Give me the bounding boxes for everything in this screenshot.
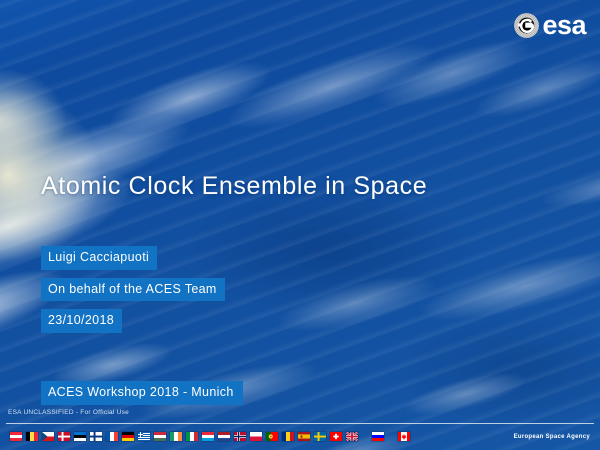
flag-canada xyxy=(398,432,410,441)
presenter-block: Luigi Cacciapuoti On behalf of the ACES … xyxy=(41,246,225,333)
flag-belgium xyxy=(26,432,38,441)
classification-notice: ESA UNCLASSIFIED - For Official Use xyxy=(8,409,129,416)
flag-greece xyxy=(138,432,150,441)
flag-finland xyxy=(90,432,102,441)
presentation-slide: esa Atomic Clock Ensemble in Space Luigi… xyxy=(0,0,600,450)
flag-poland xyxy=(250,432,262,441)
flag-france xyxy=(106,432,118,441)
flag-slovenia xyxy=(372,432,384,441)
member-state-flags xyxy=(10,432,410,441)
esa-logo: esa xyxy=(513,8,586,42)
flag-united-kingdom xyxy=(346,432,358,441)
flag-italy xyxy=(186,432,198,441)
flag-austria xyxy=(10,432,22,441)
esa-globe-mark xyxy=(513,12,540,39)
page-title: Atomic Clock Ensemble in Space xyxy=(41,172,427,201)
venue-label: ACES Workshop 2018 - Munich xyxy=(41,381,243,405)
flag-czech-republic xyxy=(42,432,54,441)
flag-norway xyxy=(234,432,246,441)
presenter-affiliation: On behalf of the ACES Team xyxy=(41,278,225,302)
presenter-name: Luigi Cacciapuoti xyxy=(41,246,157,270)
flag-ireland xyxy=(170,432,182,441)
flag-romania xyxy=(282,432,294,441)
flag-luxembourg xyxy=(202,432,214,441)
presentation-date: 23/10/2018 xyxy=(41,309,122,333)
footer-divider xyxy=(6,423,594,424)
flag-sweden xyxy=(314,432,326,441)
flag-netherlands xyxy=(218,432,230,441)
flag-germany xyxy=(122,432,134,441)
esa-wordmark: esa xyxy=(542,12,586,39)
flag-estonia xyxy=(74,432,86,441)
flag-portugal xyxy=(266,432,278,441)
venue-block: ACES Workshop 2018 - Munich xyxy=(41,381,243,405)
flag-denmark xyxy=(58,432,70,441)
flag-switzerland xyxy=(330,432,342,441)
agency-name: European Space Agency xyxy=(514,434,590,440)
flag-spain xyxy=(298,432,310,441)
flag-hungary xyxy=(154,432,166,441)
